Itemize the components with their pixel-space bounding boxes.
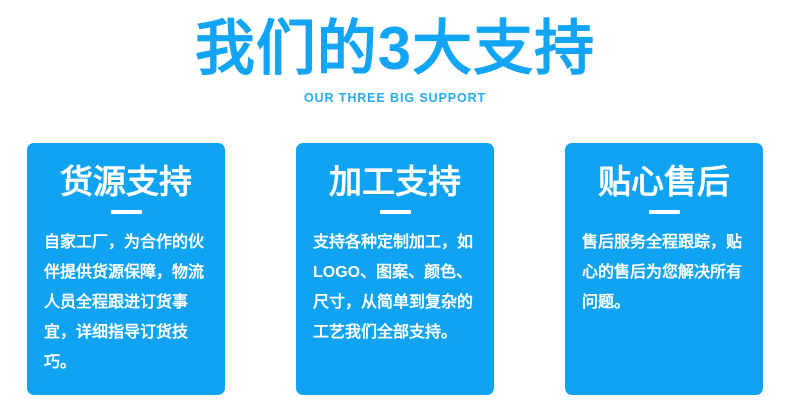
support-card-huoyuan: 货源支持 自家工厂，为合作的伙伴提供货源保障，物流人员全程跟进订货事宜，详细指导… [27, 143, 225, 395]
support-cards-row: 货源支持 自家工厂，为合作的伙伴提供货源保障，物流人员全程跟进订货事宜，详细指导… [27, 143, 763, 395]
page-title: 我们的3大支持 [0, 0, 790, 82]
card-body-text: 自家工厂，为合作的伙伴提供货源保障，物流人员全程跟进订货事宜，详细指导订货技巧。 [44, 214, 208, 378]
card-title: 货源支持 [44, 162, 208, 201]
banner-header: 我们的3大支持 OUR THREE BIG SUPPORT [0, 0, 790, 105]
card-body-text: 售后服务全程跟踪，贴心的售后为您解决所有问题。 [582, 214, 746, 318]
support-card-jiagong: 加工支持 支持各种定制加工，如LOGO、图案、颜色、尺寸，从简单到复杂的工艺我们… [296, 143, 494, 395]
support-card-shouhou: 贴心售后 售后服务全程跟踪，贴心的售后为您解决所有问题。 [565, 143, 763, 395]
card-title: 贴心售后 [582, 162, 746, 201]
card-title: 加工支持 [313, 162, 477, 201]
promo-banner: 我们的3大支持 OUR THREE BIG SUPPORT 货源支持 自家工厂，… [0, 0, 790, 402]
page-subtitle: OUR THREE BIG SUPPORT [0, 82, 790, 105]
card-body-text: 支持各种定制加工，如LOGO、图案、颜色、尺寸，从简单到复杂的工艺我们全部支持。 [313, 214, 477, 348]
